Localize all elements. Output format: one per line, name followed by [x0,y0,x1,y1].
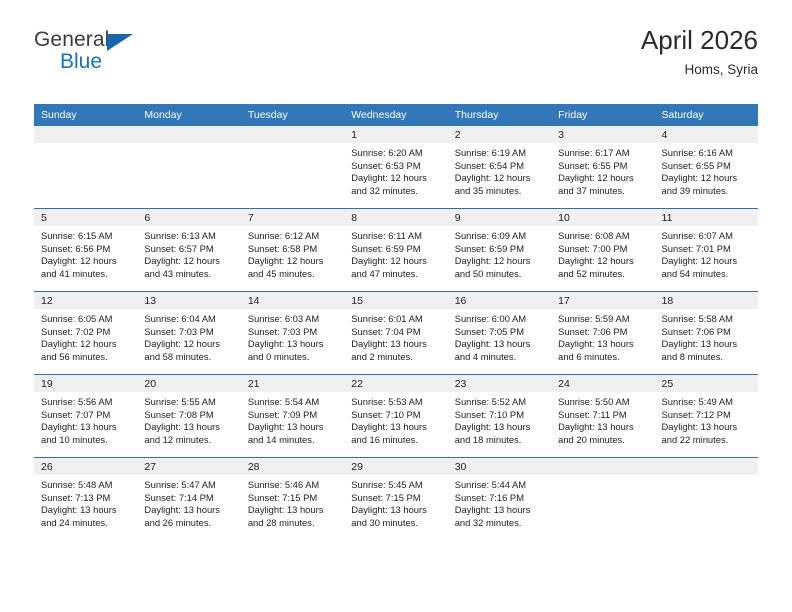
daylight-text-line1: Daylight: 12 hours [662,255,752,268]
sunrise-text: Sunrise: 5:48 AM [41,479,131,492]
calendar-cell-empty [655,458,758,541]
day-number: 7 [241,209,344,226]
sunset-text: Sunset: 7:11 PM [558,409,648,422]
daylight-text-line2: and 52 minutes. [558,268,648,281]
sunrise-text: Sunrise: 6:00 AM [455,313,545,326]
title-block: April 2026 Homs, Syria [641,24,758,80]
sunset-text: Sunset: 7:08 PM [144,409,234,422]
sunrise-text: Sunrise: 5:54 AM [248,396,338,409]
daylight-text-line2: and 28 minutes. [248,517,338,530]
sunset-text: Sunset: 7:15 PM [351,492,441,505]
sunset-text: Sunset: 7:06 PM [558,326,648,339]
day-number [241,126,344,143]
sunset-text: Sunset: 7:03 PM [144,326,234,339]
sunrise-text: Sunrise: 5:45 AM [351,479,441,492]
day-details: Sunrise: 6:17 AMSunset: 6:55 PMDaylight:… [551,143,654,197]
weekday-header-saturday: Saturday [655,104,758,126]
day-number: 14 [241,292,344,309]
sunset-text: Sunset: 6:55 PM [662,160,752,173]
daylight-text-line2: and 47 minutes. [351,268,441,281]
calendar-day-cell[interactable]: 27Sunrise: 5:47 AMSunset: 7:14 PMDayligh… [137,458,240,541]
day-number: 11 [655,209,758,226]
day-details: Sunrise: 6:00 AMSunset: 7:05 PMDaylight:… [448,309,551,363]
calendar-day-cell[interactable]: 25Sunrise: 5:49 AMSunset: 7:12 PMDayligh… [655,375,758,458]
day-details: Sunrise: 6:15 AMSunset: 6:56 PMDaylight:… [34,226,137,280]
day-number [551,458,654,475]
daylight-text-line2: and 4 minutes. [455,351,545,364]
day-details: Sunrise: 6:04 AMSunset: 7:03 PMDaylight:… [137,309,240,363]
day-number: 28 [241,458,344,475]
location-subtitle: Homs, Syria [641,60,758,80]
daylight-text-line1: Daylight: 13 hours [248,338,338,351]
daylight-text-line1: Daylight: 13 hours [41,504,131,517]
sunset-text: Sunset: 6:54 PM [455,160,545,173]
day-details: Sunrise: 6:03 AMSunset: 7:03 PMDaylight:… [241,309,344,363]
sunset-text: Sunset: 7:03 PM [248,326,338,339]
daylight-text-line1: Daylight: 13 hours [351,504,441,517]
daylight-text-line1: Daylight: 13 hours [351,338,441,351]
calendar-day-cell[interactable]: 18Sunrise: 5:58 AMSunset: 7:06 PMDayligh… [655,292,758,375]
day-number: 23 [448,375,551,392]
day-number: 25 [655,375,758,392]
weekday-header-friday: Friday [551,104,654,126]
day-number: 19 [34,375,137,392]
daylight-text-line2: and 0 minutes. [248,351,338,364]
calendar-day-cell[interactable]: 9Sunrise: 6:09 AMSunset: 6:59 PMDaylight… [448,209,551,292]
sunrise-text: Sunrise: 5:49 AM [662,396,752,409]
day-details: Sunrise: 6:13 AMSunset: 6:57 PMDaylight:… [137,226,240,280]
day-number [655,458,758,475]
day-number: 26 [34,458,137,475]
day-details: Sunrise: 5:54 AMSunset: 7:09 PMDaylight:… [241,392,344,446]
page-title: April 2026 [641,24,758,56]
day-number: 3 [551,126,654,143]
daylight-text-line2: and 41 minutes. [41,268,131,281]
day-number: 21 [241,375,344,392]
calendar-day-cell[interactable]: 6Sunrise: 6:13 AMSunset: 6:57 PMDaylight… [137,209,240,292]
daylight-text-line2: and 58 minutes. [144,351,234,364]
calendar-day-cell[interactable]: 10Sunrise: 6:08 AMSunset: 7:00 PMDayligh… [551,209,654,292]
day-details: Sunrise: 5:52 AMSunset: 7:10 PMDaylight:… [448,392,551,446]
day-details: Sunrise: 5:53 AMSunset: 7:10 PMDaylight:… [344,392,447,446]
daylight-text-line1: Daylight: 13 hours [455,504,545,517]
sunset-text: Sunset: 6:59 PM [351,243,441,256]
daylight-text-line2: and 32 minutes. [455,517,545,530]
calendar-day-cell[interactable]: 28Sunrise: 5:46 AMSunset: 7:15 PMDayligh… [241,458,344,541]
daylight-text-line1: Daylight: 13 hours [455,421,545,434]
calendar-day-cell[interactable]: 11Sunrise: 6:07 AMSunset: 7:01 PMDayligh… [655,209,758,292]
sunset-text: Sunset: 7:16 PM [455,492,545,505]
day-number: 30 [448,458,551,475]
calendar-day-cell[interactable]: 24Sunrise: 5:50 AMSunset: 7:11 PMDayligh… [551,375,654,458]
day-details: Sunrise: 6:05 AMSunset: 7:02 PMDaylight:… [34,309,137,363]
calendar-day-cell[interactable]: 17Sunrise: 5:59 AMSunset: 7:06 PMDayligh… [551,292,654,375]
day-details: Sunrise: 5:55 AMSunset: 7:08 PMDaylight:… [137,392,240,446]
calendar-week-row: 5Sunrise: 6:15 AMSunset: 6:56 PMDaylight… [34,209,758,292]
sunset-text: Sunset: 7:00 PM [558,243,648,256]
day-number: 12 [34,292,137,309]
sunset-text: Sunset: 6:55 PM [558,160,648,173]
calendar-day-cell[interactable]: 5Sunrise: 6:15 AMSunset: 6:56 PMDaylight… [34,209,137,292]
daylight-text-line2: and 14 minutes. [248,434,338,447]
day-details: Sunrise: 5:56 AMSunset: 7:07 PMDaylight:… [34,392,137,446]
sunset-text: Sunset: 6:53 PM [351,160,441,173]
sunset-text: Sunset: 7:13 PM [41,492,131,505]
daylight-text-line2: and 20 minutes. [558,434,648,447]
calendar-cell-empty [137,126,240,209]
sunset-text: Sunset: 7:07 PM [41,409,131,422]
day-details: Sunrise: 6:12 AMSunset: 6:58 PMDaylight:… [241,226,344,280]
day-number: 27 [137,458,240,475]
sunrise-text: Sunrise: 5:44 AM [455,479,545,492]
day-details: Sunrise: 5:46 AMSunset: 7:15 PMDaylight:… [241,475,344,529]
sunrise-text: Sunrise: 5:47 AM [144,479,234,492]
day-number: 15 [344,292,447,309]
weekday-header-thursday: Thursday [448,104,551,126]
day-details: Sunrise: 5:49 AMSunset: 7:12 PMDaylight:… [655,392,758,446]
day-number [137,126,240,143]
calendar-day-cell[interactable]: 29Sunrise: 5:45 AMSunset: 7:15 PMDayligh… [344,458,447,541]
daylight-text-line1: Daylight: 12 hours [455,255,545,268]
daylight-text-line1: Daylight: 12 hours [248,255,338,268]
daylight-text-line1: Daylight: 13 hours [248,421,338,434]
calendar-day-cell[interactable]: 8Sunrise: 6:11 AMSunset: 6:59 PMDaylight… [344,209,447,292]
daylight-text-line2: and 16 minutes. [351,434,441,447]
sunrise-text: Sunrise: 6:04 AM [144,313,234,326]
daylight-text-line1: Daylight: 13 hours [455,338,545,351]
day-number: 24 [551,375,654,392]
day-details: Sunrise: 5:48 AMSunset: 7:13 PMDaylight:… [34,475,137,529]
sunrise-text: Sunrise: 5:50 AM [558,396,648,409]
day-number: 5 [34,209,137,226]
day-details: Sunrise: 5:59 AMSunset: 7:06 PMDaylight:… [551,309,654,363]
sunset-text: Sunset: 7:14 PM [144,492,234,505]
daylight-text-line2: and 8 minutes. [662,351,752,364]
sunrise-text: Sunrise: 5:58 AM [662,313,752,326]
calendar-day-cell[interactable]: 26Sunrise: 5:48 AMSunset: 7:13 PMDayligh… [34,458,137,541]
daylight-text-line1: Daylight: 13 hours [144,504,234,517]
sunrise-text: Sunrise: 5:52 AM [455,396,545,409]
sunset-text: Sunset: 6:56 PM [41,243,131,256]
sunrise-text: Sunrise: 5:46 AM [248,479,338,492]
calendar-cell-empty [34,126,137,209]
daylight-text-line2: and 32 minutes. [351,185,441,198]
sunrise-text: Sunrise: 5:53 AM [351,396,441,409]
calendar-day-cell[interactable]: 16Sunrise: 6:00 AMSunset: 7:05 PMDayligh… [448,292,551,375]
daylight-text-line2: and 35 minutes. [455,185,545,198]
sunrise-text: Sunrise: 5:59 AM [558,313,648,326]
sunrise-text: Sunrise: 6:20 AM [351,147,441,160]
weekday-header-tuesday: Tuesday [241,104,344,126]
day-details: Sunrise: 5:58 AMSunset: 7:06 PMDaylight:… [655,309,758,363]
sunrise-text: Sunrise: 5:55 AM [144,396,234,409]
daylight-text-line1: Daylight: 12 hours [558,172,648,185]
brand-name-general: General [34,28,109,52]
calendar-week-row: 26Sunrise: 5:48 AMSunset: 7:13 PMDayligh… [34,458,758,541]
weekday-header-row: Sunday Monday Tuesday Wednesday Thursday… [34,104,758,126]
calendar-day-cell[interactable]: 19Sunrise: 5:56 AMSunset: 7:07 PMDayligh… [34,375,137,458]
day-details: Sunrise: 6:09 AMSunset: 6:59 PMDaylight:… [448,226,551,280]
daylight-text-line1: Daylight: 12 hours [144,338,234,351]
calendar-day-cell[interactable]: 7Sunrise: 6:12 AMSunset: 6:58 PMDaylight… [241,209,344,292]
day-number: 29 [344,458,447,475]
day-details: Sunrise: 6:07 AMSunset: 7:01 PMDaylight:… [655,226,758,280]
day-number [34,126,137,143]
sunrise-text: Sunrise: 6:19 AM [455,147,545,160]
sunset-text: Sunset: 7:10 PM [351,409,441,422]
calendar-day-cell[interactable]: 15Sunrise: 6:01 AMSunset: 7:04 PMDayligh… [344,292,447,375]
calendar-day-cell[interactable]: 13Sunrise: 6:04 AMSunset: 7:03 PMDayligh… [137,292,240,375]
calendar-day-cell[interactable]: 1Sunrise: 6:20 AMSunset: 6:53 PMDaylight… [344,126,447,209]
day-number: 17 [551,292,654,309]
calendar-day-cell[interactable]: 4Sunrise: 6:16 AMSunset: 6:55 PMDaylight… [655,126,758,209]
sunrise-text: Sunrise: 6:05 AM [41,313,131,326]
sunrise-text: Sunrise: 6:11 AM [351,230,441,243]
calendar-day-cell[interactable]: 30Sunrise: 5:44 AMSunset: 7:16 PMDayligh… [448,458,551,541]
daylight-text-line1: Daylight: 12 hours [41,338,131,351]
daylight-text-line1: Daylight: 12 hours [455,172,545,185]
daylight-text-line1: Daylight: 12 hours [351,172,441,185]
daylight-text-line2: and 2 minutes. [351,351,441,364]
calendar-cell-empty [551,458,654,541]
sunset-text: Sunset: 7:06 PM [662,326,752,339]
daylight-text-line1: Daylight: 13 hours [248,504,338,517]
day-number: 13 [137,292,240,309]
day-details: Sunrise: 6:16 AMSunset: 6:55 PMDaylight:… [655,143,758,197]
day-number: 20 [137,375,240,392]
calendar-week-row: 19Sunrise: 5:56 AMSunset: 7:07 PMDayligh… [34,375,758,458]
day-details: Sunrise: 5:44 AMSunset: 7:16 PMDaylight:… [448,475,551,529]
day-details: Sunrise: 6:01 AMSunset: 7:04 PMDaylight:… [344,309,447,363]
daylight-text-line2: and 18 minutes. [455,434,545,447]
brand-logo[interactable]: General Blue [34,28,234,86]
daylight-text-line2: and 26 minutes. [144,517,234,530]
day-number: 9 [448,209,551,226]
calendar-week-row: 1Sunrise: 6:20 AMSunset: 6:53 PMDaylight… [34,126,758,209]
sunset-text: Sunset: 7:04 PM [351,326,441,339]
daylight-text-line2: and 54 minutes. [662,268,752,281]
daylight-text-line1: Daylight: 12 hours [144,255,234,268]
daylight-text-line2: and 56 minutes. [41,351,131,364]
day-number: 1 [344,126,447,143]
daylight-text-line2: and 22 minutes. [662,434,752,447]
daylight-text-line1: Daylight: 12 hours [41,255,131,268]
day-details: Sunrise: 6:08 AMSunset: 7:00 PMDaylight:… [551,226,654,280]
daylight-text-line2: and 37 minutes. [558,185,648,198]
calendar-day-cell[interactable]: 21Sunrise: 5:54 AMSunset: 7:09 PMDayligh… [241,375,344,458]
day-number: 6 [137,209,240,226]
daylight-text-line1: Daylight: 13 hours [41,421,131,434]
sunset-text: Sunset: 7:05 PM [455,326,545,339]
daylight-text-line2: and 45 minutes. [248,268,338,281]
sunset-text: Sunset: 7:09 PM [248,409,338,422]
sunrise-text: Sunrise: 6:12 AM [248,230,338,243]
daylight-text-line2: and 24 minutes. [41,517,131,530]
calendar-week-row: 12Sunrise: 6:05 AMSunset: 7:02 PMDayligh… [34,292,758,375]
daylight-text-line1: Daylight: 12 hours [351,255,441,268]
sunrise-text: Sunrise: 6:17 AM [558,147,648,160]
brand-name-blue: Blue [60,50,102,74]
day-number: 22 [344,375,447,392]
triangle-logo-icon [107,34,133,51]
calendar-day-cell[interactable]: 12Sunrise: 6:05 AMSunset: 7:02 PMDayligh… [34,292,137,375]
day-details: Sunrise: 6:19 AMSunset: 6:54 PMDaylight:… [448,143,551,197]
calendar-page: General Blue April 2026 Homs, Syria Sund… [0,0,792,612]
daylight-text-line1: Daylight: 12 hours [662,172,752,185]
daylight-text-line2: and 43 minutes. [144,268,234,281]
sunrise-text: Sunrise: 6:15 AM [41,230,131,243]
day-details: Sunrise: 6:20 AMSunset: 6:53 PMDaylight:… [344,143,447,197]
sunset-text: Sunset: 7:15 PM [248,492,338,505]
day-number: 8 [344,209,447,226]
sunset-text: Sunset: 7:01 PM [662,243,752,256]
weekday-header-sunday: Sunday [34,104,137,126]
sunrise-text: Sunrise: 5:56 AM [41,396,131,409]
sunset-text: Sunset: 6:58 PM [248,243,338,256]
weekday-header-monday: Monday [137,104,240,126]
sunset-text: Sunset: 7:02 PM [41,326,131,339]
daylight-text-line1: Daylight: 13 hours [144,421,234,434]
sunrise-text: Sunrise: 6:07 AM [662,230,752,243]
sunset-text: Sunset: 6:59 PM [455,243,545,256]
day-number: 4 [655,126,758,143]
day-details: Sunrise: 5:50 AMSunset: 7:11 PMDaylight:… [551,392,654,446]
day-number: 2 [448,126,551,143]
daylight-text-line1: Daylight: 13 hours [558,421,648,434]
daylight-text-line2: and 10 minutes. [41,434,131,447]
day-number: 18 [655,292,758,309]
calendar-table: Sunday Monday Tuesday Wednesday Thursday… [34,104,758,540]
daylight-text-line2: and 6 minutes. [558,351,648,364]
page-header: General Blue April 2026 Homs, Syria [34,28,758,94]
daylight-text-line1: Daylight: 13 hours [662,421,752,434]
daylight-text-line1: Daylight: 13 hours [558,338,648,351]
daylight-text-line1: Daylight: 12 hours [558,255,648,268]
calendar-body: 1Sunrise: 6:20 AMSunset: 6:53 PMDaylight… [34,126,758,540]
calendar-day-cell[interactable]: 2Sunrise: 6:19 AMSunset: 6:54 PMDaylight… [448,126,551,209]
daylight-text-line2: and 30 minutes. [351,517,441,530]
calendar-cell-empty [241,126,344,209]
daylight-text-line2: and 12 minutes. [144,434,234,447]
weekday-header-wednesday: Wednesday [344,104,447,126]
day-details: Sunrise: 5:45 AMSunset: 7:15 PMDaylight:… [344,475,447,529]
calendar-day-cell[interactable]: 23Sunrise: 5:52 AMSunset: 7:10 PMDayligh… [448,375,551,458]
daylight-text-line1: Daylight: 13 hours [662,338,752,351]
day-details: Sunrise: 6:11 AMSunset: 6:59 PMDaylight:… [344,226,447,280]
day-number: 16 [448,292,551,309]
calendar-day-cell[interactable]: 22Sunrise: 5:53 AMSunset: 7:10 PMDayligh… [344,375,447,458]
day-details: Sunrise: 5:47 AMSunset: 7:14 PMDaylight:… [137,475,240,529]
sunset-text: Sunset: 7:12 PM [662,409,752,422]
sunrise-text: Sunrise: 6:01 AM [351,313,441,326]
sunset-text: Sunset: 7:10 PM [455,409,545,422]
daylight-text-line2: and 50 minutes. [455,268,545,281]
sunrise-text: Sunrise: 6:16 AM [662,147,752,160]
sunrise-text: Sunrise: 6:09 AM [455,230,545,243]
sunrise-text: Sunrise: 6:03 AM [248,313,338,326]
calendar-day-cell[interactable]: 3Sunrise: 6:17 AMSunset: 6:55 PMDaylight… [551,126,654,209]
sunrise-text: Sunrise: 6:13 AM [144,230,234,243]
day-number: 10 [551,209,654,226]
sunset-text: Sunset: 6:57 PM [144,243,234,256]
daylight-text-line2: and 39 minutes. [662,185,752,198]
sunrise-text: Sunrise: 6:08 AM [558,230,648,243]
calendar-day-cell[interactable]: 20Sunrise: 5:55 AMSunset: 7:08 PMDayligh… [137,375,240,458]
calendar-day-cell[interactable]: 14Sunrise: 6:03 AMSunset: 7:03 PMDayligh… [241,292,344,375]
daylight-text-line1: Daylight: 13 hours [351,421,441,434]
